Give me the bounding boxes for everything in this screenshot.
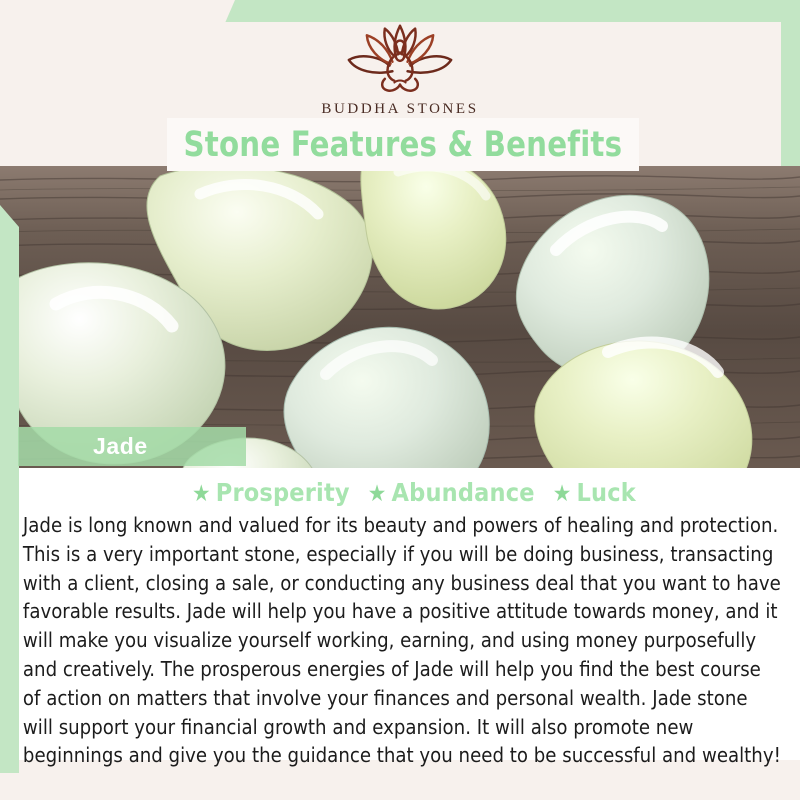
description-card: ★Prosperity★Abundance★Luck Jade is long …: [18, 468, 800, 760]
star-icon-2: ★: [368, 481, 387, 507]
benefit-label-abundance: Abundance: [392, 478, 535, 507]
stone-name-text: Jade: [93, 433, 148, 460]
stone-photo: [0, 166, 800, 468]
brand-name: BUDDHA STONES: [321, 101, 478, 118]
stone-description: Jade is long known and valued for its be…: [18, 511, 788, 770]
benefit-label-luck: Luck: [577, 478, 636, 507]
benefit-label-prosperity: Prosperity: [216, 478, 350, 507]
benefits-row: ★Prosperity★Abundance★Luck: [18, 468, 800, 507]
stone-name-label: Jade: [18, 427, 246, 466]
lotus-meditation-icon: [334, 22, 466, 94]
left-accent-band: [0, 205, 19, 773]
brand-block: BUDDHA STONES: [0, 22, 800, 118]
star-icon-3: ★: [553, 481, 572, 507]
stone-info-poster: BUDDHA STONES Stone Features & Benefits: [0, 0, 800, 800]
star-icon-1: ★: [192, 481, 211, 507]
page-title: Stone Features & Benefits: [184, 125, 623, 165]
title-plate: Stone Features & Benefits: [167, 118, 639, 171]
